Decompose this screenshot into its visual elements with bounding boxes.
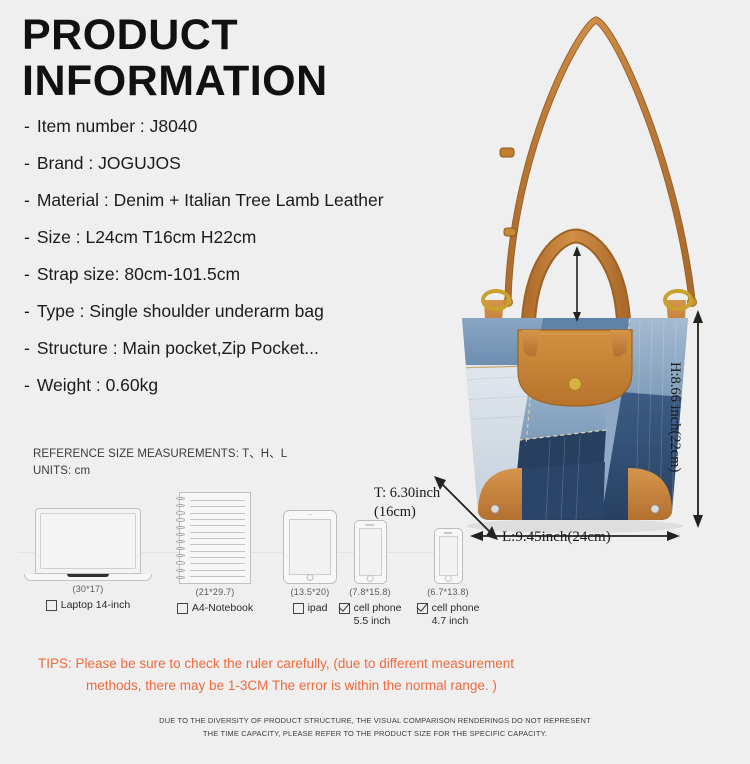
page-title-line-1: PRODUCT (22, 12, 442, 58)
product-image: 5.12inch(13cm) (400, 0, 750, 560)
spec-text: Structure : Main pocket,Zip Pocket... (37, 340, 319, 358)
checkbox-cellphone-47[interactable] (417, 603, 428, 614)
tips-note: TIPS: Please be sure to check the ruler … (38, 653, 658, 697)
device-label-line-2: 5.5 inch (354, 615, 391, 627)
spec-dash: - (24, 155, 30, 173)
device-checkbox-row[interactable]: A4-Notebook (160, 602, 270, 615)
device-label: A4-Notebook (192, 602, 253, 615)
checkbox-a4-notebook[interactable] (177, 603, 188, 614)
notebook-icon (160, 492, 270, 584)
footer-disclaimer: DUE TO THE DIVERSITY OF PRODUCT STRUCTUR… (0, 714, 750, 740)
bag-illustration (400, 0, 750, 560)
spec-dash: - (24, 229, 30, 247)
device-label: Laptop 14-inch (61, 599, 130, 612)
spec-text: Type : Single shoulder underarm bag (37, 303, 324, 321)
dimension-height: H:8.66 inch(22cm) (666, 362, 683, 472)
page-title-line-2: INFORMATION (22, 58, 442, 104)
device-checkbox-row[interactable]: Laptop 14-inch (18, 599, 158, 612)
tips-label: TIPS: (38, 656, 72, 671)
device-label-line-2: 4.7 inch (432, 615, 469, 627)
reference-heading-line-2: UNITS: cm (33, 463, 287, 480)
device-comparison-row: (30*17) Laptop 14-inch (21*29.7) (18, 486, 458, 616)
reference-heading-line-1: REFERENCE SIZE MEASUREMENTS: T、H、L (33, 446, 287, 463)
spec-text: Brand : JOGUJOS (37, 155, 181, 173)
device-label-line-1: cell phone (354, 602, 402, 614)
tips-line-2: methods, there may be 1-3CM The error is… (86, 675, 658, 697)
page-title: PRODUCT INFORMATION (22, 12, 442, 105)
spec-text: Item number : J8040 (37, 118, 198, 136)
device-item-cellphone-55: (7.8*15.8) cell phone 5.5 inch (329, 520, 411, 628)
checkbox-ipad[interactable] (293, 603, 304, 614)
dimension-length: L:9.45inch(24cm) (502, 529, 611, 546)
device-checkbox-row[interactable]: cell phone 4.7 inch (407, 602, 489, 628)
cellphone-icon (407, 528, 489, 584)
footer-line-1: DUE TO THE DIVERSITY OF PRODUCT STRUCTUR… (0, 714, 750, 727)
reference-size-heading: REFERENCE SIZE MEASUREMENTS: T、H、L UNITS… (33, 446, 287, 480)
device-checkbox-row[interactable]: cell phone 5.5 inch (329, 602, 411, 628)
spec-dash: - (24, 192, 30, 210)
device-dimensions: (21*29.7) (160, 587, 270, 597)
device-item-cellphone-47: (6.7*13.8) cell phone 4.7 inch (407, 528, 489, 628)
device-dimensions: (7.8*15.8) (329, 587, 411, 597)
footer-line-2: THE TIME CAPACITY, PLEASE REFER TO THE P… (0, 727, 750, 740)
spec-dash: - (24, 118, 30, 136)
device-item-a4-notebook: (21*29.7) A4-Notebook (160, 492, 270, 615)
spec-dash: - (24, 340, 30, 358)
device-label: ipad (308, 602, 328, 615)
device-label: cell phone 5.5 inch (354, 602, 402, 628)
cellphone-icon (329, 520, 411, 584)
spec-text: Weight : 0.60kg (37, 377, 158, 395)
laptop-icon (18, 508, 158, 581)
device-dimensions: (6.7*13.8) (407, 587, 489, 597)
product-information-page: PRODUCT INFORMATION - Item number : J804… (0, 0, 750, 764)
spec-dash: - (24, 266, 30, 284)
spec-text: Size : L24cm T16cm H22cm (37, 229, 256, 247)
checkbox-laptop[interactable] (46, 600, 57, 611)
spec-dash: - (24, 303, 30, 321)
spec-text: Material : Denim + Italian Tree Lamb Lea… (37, 192, 384, 210)
device-dimensions: (30*17) (18, 584, 158, 594)
device-label-line-1: cell phone (432, 602, 480, 614)
spec-dash: - (24, 377, 30, 395)
spec-text: Strap size: 80cm-101.5cm (37, 266, 240, 284)
checkbox-cellphone-55[interactable] (339, 603, 350, 614)
device-item-laptop: (30*17) Laptop 14-inch (18, 508, 158, 612)
device-label: cell phone 4.7 inch (432, 602, 480, 628)
tips-line-1: Please be sure to check the ruler carefu… (76, 656, 514, 671)
